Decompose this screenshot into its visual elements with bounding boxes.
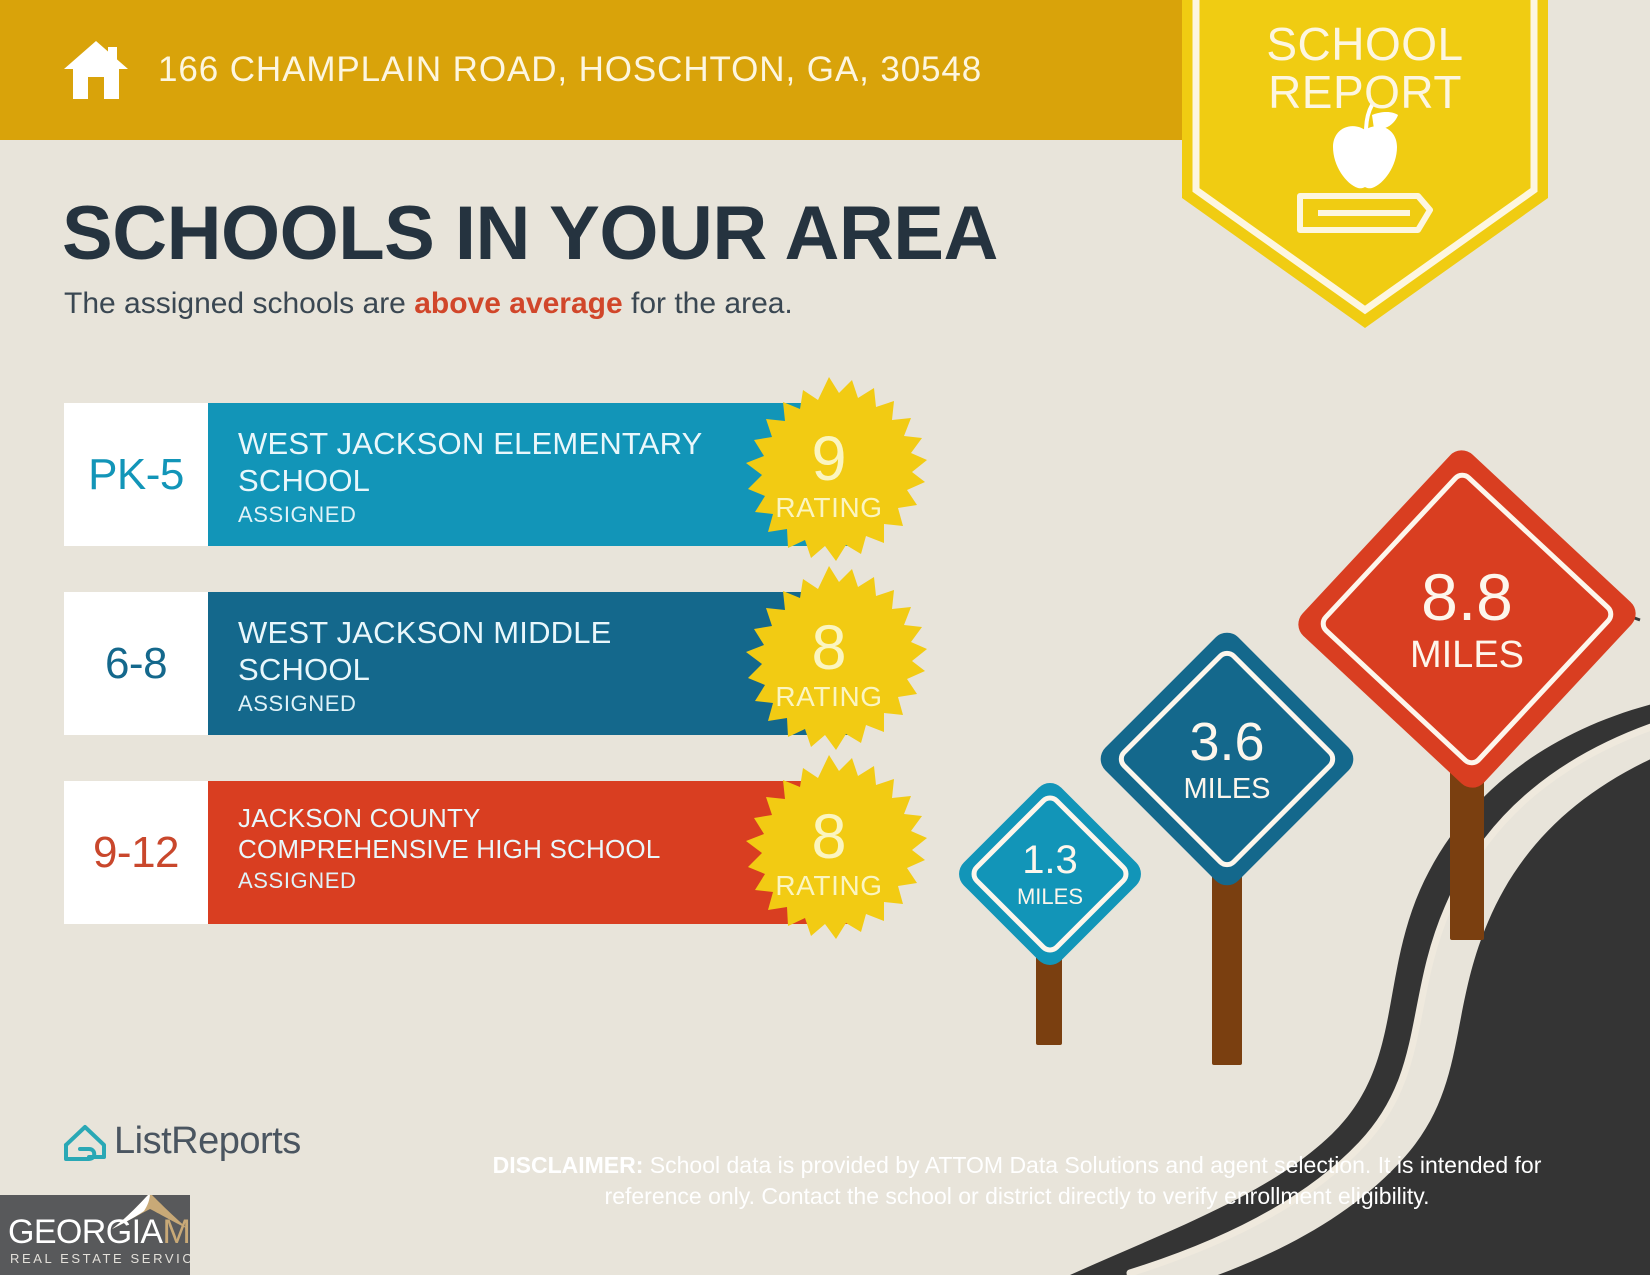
rating-badge: 9 RATING xyxy=(729,375,929,575)
rating-value: 8 xyxy=(811,808,846,866)
grade-range-label: 9-12 xyxy=(93,828,179,878)
rating-label: RATING xyxy=(775,492,882,524)
subtitle-prefix: The assigned schools are xyxy=(64,287,414,320)
school-name: WEST JACKSON ELEMENTARY SCHOOL xyxy=(238,425,708,499)
rating-badge: 8 RATING xyxy=(729,753,929,953)
georgia-mls-logo[interactable]: GEORGIAMLS REAL ESTATE SERVICES xyxy=(0,1195,190,1275)
home-icon xyxy=(62,39,130,101)
grade-range-box: 9-12 xyxy=(64,781,208,924)
rating-badge: 8 RATING xyxy=(729,564,929,764)
house-outline-icon xyxy=(62,1121,108,1163)
sign-distance-value: 1.3 xyxy=(1022,840,1078,880)
disclaimer: DISCLAIMER: School data is provided by A… xyxy=(487,1150,1547,1212)
school-name: JACKSON COUNTY COMPREHENSIVE HIGH SCHOOL xyxy=(238,803,708,865)
rating-label: RATING xyxy=(775,681,882,713)
badge-title-line2: REPORT xyxy=(1182,68,1548,116)
badge-title-line1: SCHOOL xyxy=(1182,20,1548,68)
property-address: 166 CHAMPLAIN ROAD, HOSCHTON, GA, 30548 xyxy=(158,50,982,90)
mls-mls-text: MLS xyxy=(163,1213,191,1251)
subtitle-highlight: above average xyxy=(414,287,622,320)
school-report-page: 1.3 MILES 3.6 MILES 8.8 xyxy=(0,0,1650,1275)
school-name: WEST JACKSON MIDDLE SCHOOL xyxy=(238,614,708,688)
disclaimer-label: DISCLAIMER: xyxy=(493,1152,644,1178)
page-title: SCHOOLS IN YOUR AREA xyxy=(62,190,998,277)
header-address-bar: 166 CHAMPLAIN ROAD, HOSCHTON, GA, 30548 xyxy=(0,0,1185,140)
sign-distance-unit: MILES xyxy=(1410,636,1524,674)
listreports-logo[interactable]: ListReports xyxy=(62,1120,301,1163)
subtitle-suffix: for the area. xyxy=(623,287,793,320)
listreports-brand-text: ListReports xyxy=(114,1120,301,1163)
sign-distance-unit: MILES xyxy=(1183,775,1270,804)
disclaimer-text: School data is provided by ATTOM Data So… xyxy=(605,1152,1542,1209)
grade-range-label: 6-8 xyxy=(105,639,167,689)
page-subtitle: The assigned schools are above average f… xyxy=(64,287,793,321)
mls-tagline: REAL ESTATE SERVICES xyxy=(10,1251,190,1266)
rating-value: 9 xyxy=(811,430,846,488)
rating-label: RATING xyxy=(775,870,882,902)
sign-distance-unit: MILES xyxy=(1017,886,1083,908)
school-row[interactable]: 9-12 JACKSON COUNTY COMPREHENSIVE HIGH S… xyxy=(64,781,857,924)
school-row[interactable]: 6-8 WEST JACKSON MIDDLE SCHOOL ASSIGNED … xyxy=(64,592,857,735)
distance-sign-2: 3.6 MILES xyxy=(1105,665,1345,1065)
school-row[interactable]: PK-5 WEST JACKSON ELEMENTARY SCHOOL ASSI… xyxy=(64,403,857,546)
grade-range-box: 6-8 xyxy=(64,592,208,735)
school-report-badge: SCHOOL REPORT xyxy=(1182,0,1548,334)
rating-value: 8 xyxy=(811,619,846,677)
sign-distance-value: 8.8 xyxy=(1421,564,1513,630)
badge-title: SCHOOL REPORT xyxy=(1182,20,1548,116)
georgia-mls-wordmark: GEORGIAMLS xyxy=(8,1213,190,1252)
sign-distance-value: 3.6 xyxy=(1189,715,1264,769)
grade-range-label: PK-5 xyxy=(88,450,184,500)
school-list: PK-5 WEST JACKSON ELEMENTARY SCHOOL ASSI… xyxy=(64,403,857,970)
mls-georgia-text: GEORGIA xyxy=(8,1213,163,1251)
distance-sign-3: 8.8 MILES xyxy=(1315,495,1615,935)
sign-diamond: 8.8 MILES xyxy=(1292,444,1643,795)
grade-range-box: PK-5 xyxy=(64,403,208,546)
